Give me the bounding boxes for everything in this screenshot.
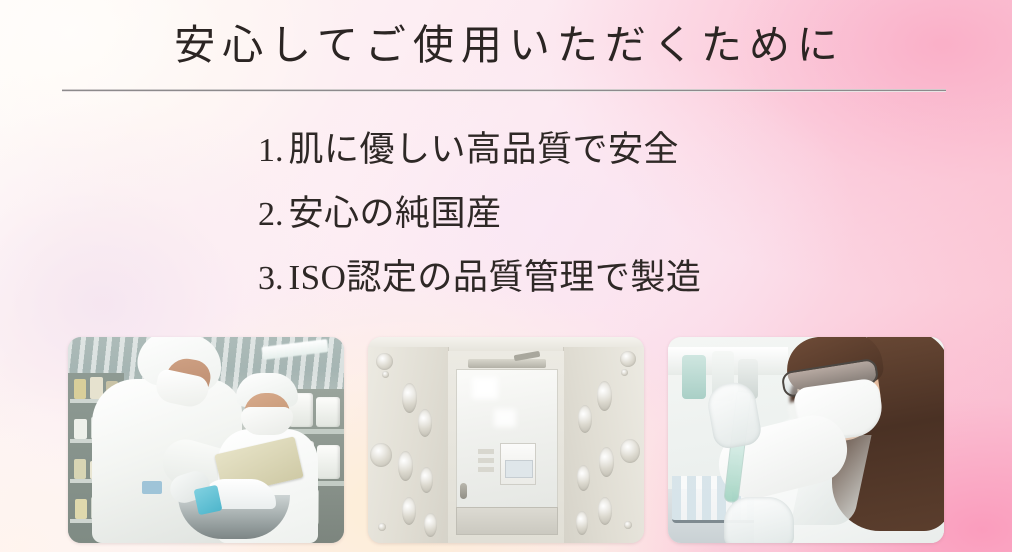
list-item-label: 肌に優しい高品質で安全: [289, 128, 680, 172]
control-panel: [500, 443, 536, 485]
manufacturing-workers-image: [68, 337, 344, 543]
list-item: 2. 安心の純国産: [258, 192, 858, 256]
list-item-label: ISO認定の品質管理で製造: [289, 256, 702, 300]
right-nozzle-wall: [563, 347, 644, 543]
page-title: 安心してご使用いただくために: [0, 17, 1012, 73]
assurance-point-list: 1. 肌に優しい高品質で安全 2. 安心の純国産 3. ISO認定の品質管理で製…: [258, 128, 858, 320]
list-item-number: 1.: [258, 129, 284, 173]
reagent-bottle-teal: [682, 355, 706, 399]
list-item: 1. 肌に優しい高品質で安全: [258, 128, 858, 192]
photo-card-cleanroom-air-shower: [368, 337, 644, 543]
divider-shadow-line: [62, 91, 946, 92]
assurance-banner: 安心してご使用いただくために 1. 肌に優しい高品質で安全 2. 安心の純国産 …: [0, 0, 1012, 552]
title-divider: [62, 89, 946, 93]
list-item: 3. ISO認定の品質管理で製造: [258, 256, 858, 320]
banner-header: 安心してご使用いただくために: [0, 0, 1012, 100]
gloved-hand-lower: [724, 497, 794, 543]
blue-scoop: [194, 485, 223, 515]
cleanroom-air-shower-image: [368, 337, 644, 543]
list-item-number: 3.: [258, 257, 284, 301]
door-handle: [460, 483, 467, 499]
door-closer: [468, 359, 546, 368]
wall-switches: [478, 449, 494, 475]
left-nozzle-wall: [368, 347, 449, 543]
photo-gallery: [68, 337, 944, 543]
laboratory-inspection-image: [668, 337, 944, 543]
list-item-number: 2.: [258, 193, 284, 237]
door-reflection-upper: [472, 377, 498, 399]
photo-card-manufacturing-workers: [68, 337, 344, 543]
photo-card-laboratory-inspection: [668, 337, 944, 543]
door-reflection-lower: [494, 409, 516, 427]
door-kick-plate: [456, 507, 558, 535]
list-item-label: 安心の純国産: [289, 192, 502, 236]
